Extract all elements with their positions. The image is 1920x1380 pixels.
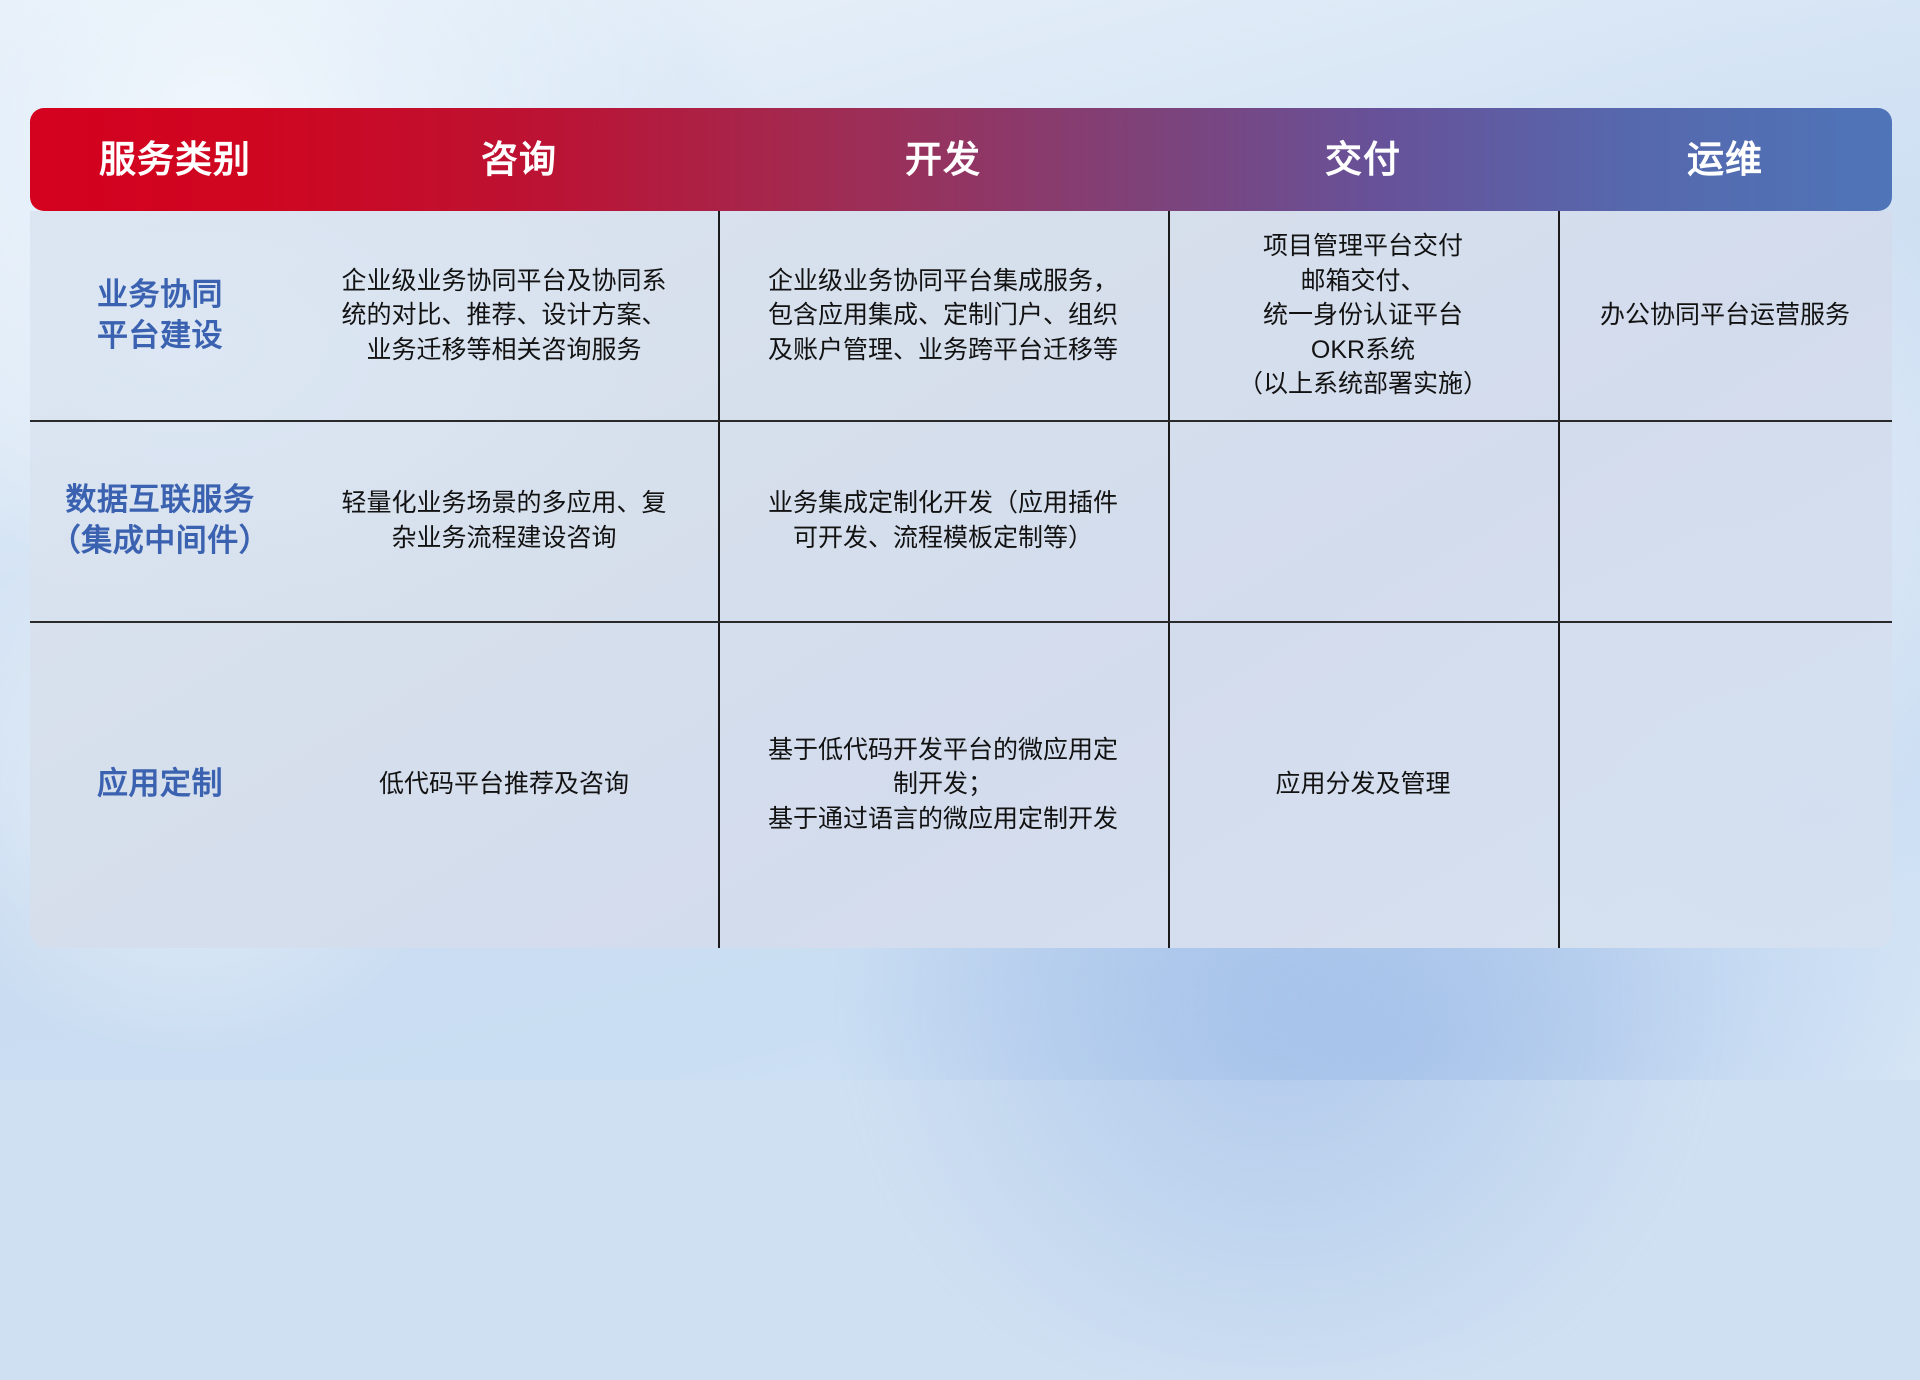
cell-operations-row1: 办公协同平台运营服务 [1558,211,1892,420]
cell-development-row3: 基于低代码开发平台的微应用定 制开发； 基于通过语言的微应用定制开发 [718,621,1168,948]
table-row: 数据互联服务 （集成中间件） 轻量化业务场景的多应用、复 杂业务流程建设咨询 业… [30,420,1892,621]
column-header-consulting: 咨询 [320,141,718,178]
row-label-data-interconnect: 数据互联服务 （集成中间件） [30,420,290,621]
row-label-app-customization: 应用定制 [30,621,290,948]
cell-delivery-row1: 项目管理平台交付 邮箱交付、 统一身份认证平台 OKR系统 （以上系统部署实施） [1168,211,1558,420]
cell-operations-row2 [1558,420,1892,621]
column-header-operations: 运维 [1558,141,1892,178]
table-header-row: 服务类别 咨询 开发 交付 运维 [30,108,1892,211]
cell-development-row2: 业务集成定制化开发（应用插件 可开发、流程模板定制等） [718,420,1168,621]
cell-consulting-row3: 低代码平台推荐及咨询 [290,621,718,948]
column-header-development: 开发 [718,141,1168,178]
cell-operations-row3 [1558,621,1892,948]
cell-delivery-row3: 应用分发及管理 [1168,621,1558,948]
service-matrix-table: 服务类别 咨询 开发 交付 运维 业务协同 平台建设 企业级业务协同平台及协同系… [30,108,1892,948]
table-row: 业务协同 平台建设 企业级业务协同平台及协同系 统的对比、推荐、设计方案、 业务… [30,211,1892,420]
table-row: 应用定制 低代码平台推荐及咨询 基于低代码开发平台的微应用定 制开发； 基于通过… [30,621,1892,948]
column-header-delivery: 交付 [1168,141,1558,178]
row-label-business-collaboration: 业务协同 平台建设 [30,211,290,420]
cell-consulting-row1: 企业级业务协同平台及协同系 统的对比、推荐、设计方案、 业务迁移等相关咨询服务 [290,211,718,420]
table-body: 业务协同 平台建设 企业级业务协同平台及协同系 统的对比、推荐、设计方案、 业务… [30,211,1892,948]
cell-consulting-row2: 轻量化业务场景的多应用、复 杂业务流程建设咨询 [290,420,718,621]
column-header-category: 服务类别 [30,141,320,178]
cell-delivery-row2 [1168,420,1558,621]
cell-development-row1: 企业级业务协同平台集成服务， 包含应用集成、定制门户、组织 及账户管理、业务跨平… [718,211,1168,420]
